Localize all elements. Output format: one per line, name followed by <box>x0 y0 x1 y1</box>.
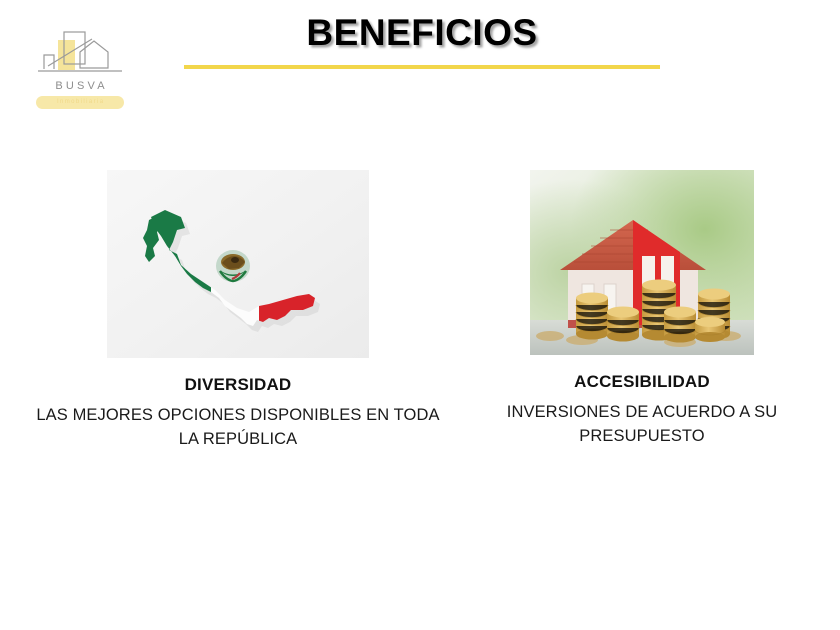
benefit-column-accesibilidad: ACCESIBILIDAD INVERSIONES DE ACUERDO A S… <box>458 170 826 448</box>
benefit-heading-diversidad: DIVERSIDAD <box>18 374 458 396</box>
company-logo: BUSVA Inmobiliaria <box>30 28 130 118</box>
benefit-heading-accesibilidad: ACCESIBILIDAD <box>458 371 826 393</box>
benefit-body-diversidad: LAS MEJORES OPCIONES DISPONIBLES EN TODA… <box>18 403 458 451</box>
title-underline-rule <box>184 65 660 69</box>
busva-building-mark-icon <box>30 28 130 80</box>
benefit-body-accesibilidad: INVERSIONES DE ACUERDO A SU PRESUPUESTO <box>458 400 826 448</box>
caption-block-right: ACCESIBILIDAD INVERSIONES DE ACUERDO A S… <box>458 371 826 448</box>
mexico-map-image <box>107 170 369 358</box>
caption-block-left: DIVERSIDAD LAS MEJORES OPCIONES DISPONIB… <box>18 374 458 451</box>
page-title: BENEFICIOS <box>184 12 660 54</box>
logo-wordmark: BUSVA <box>30 80 130 92</box>
logo-tagline: Inmobiliaria <box>36 97 124 108</box>
house-and-coins-image <box>530 170 754 355</box>
slide-canvas: { "slide": { "title": "BENEFICIOS", "bac… <box>0 0 840 630</box>
benefit-column-diversidad: DIVERSIDAD LAS MEJORES OPCIONES DISPONIB… <box>18 170 458 451</box>
